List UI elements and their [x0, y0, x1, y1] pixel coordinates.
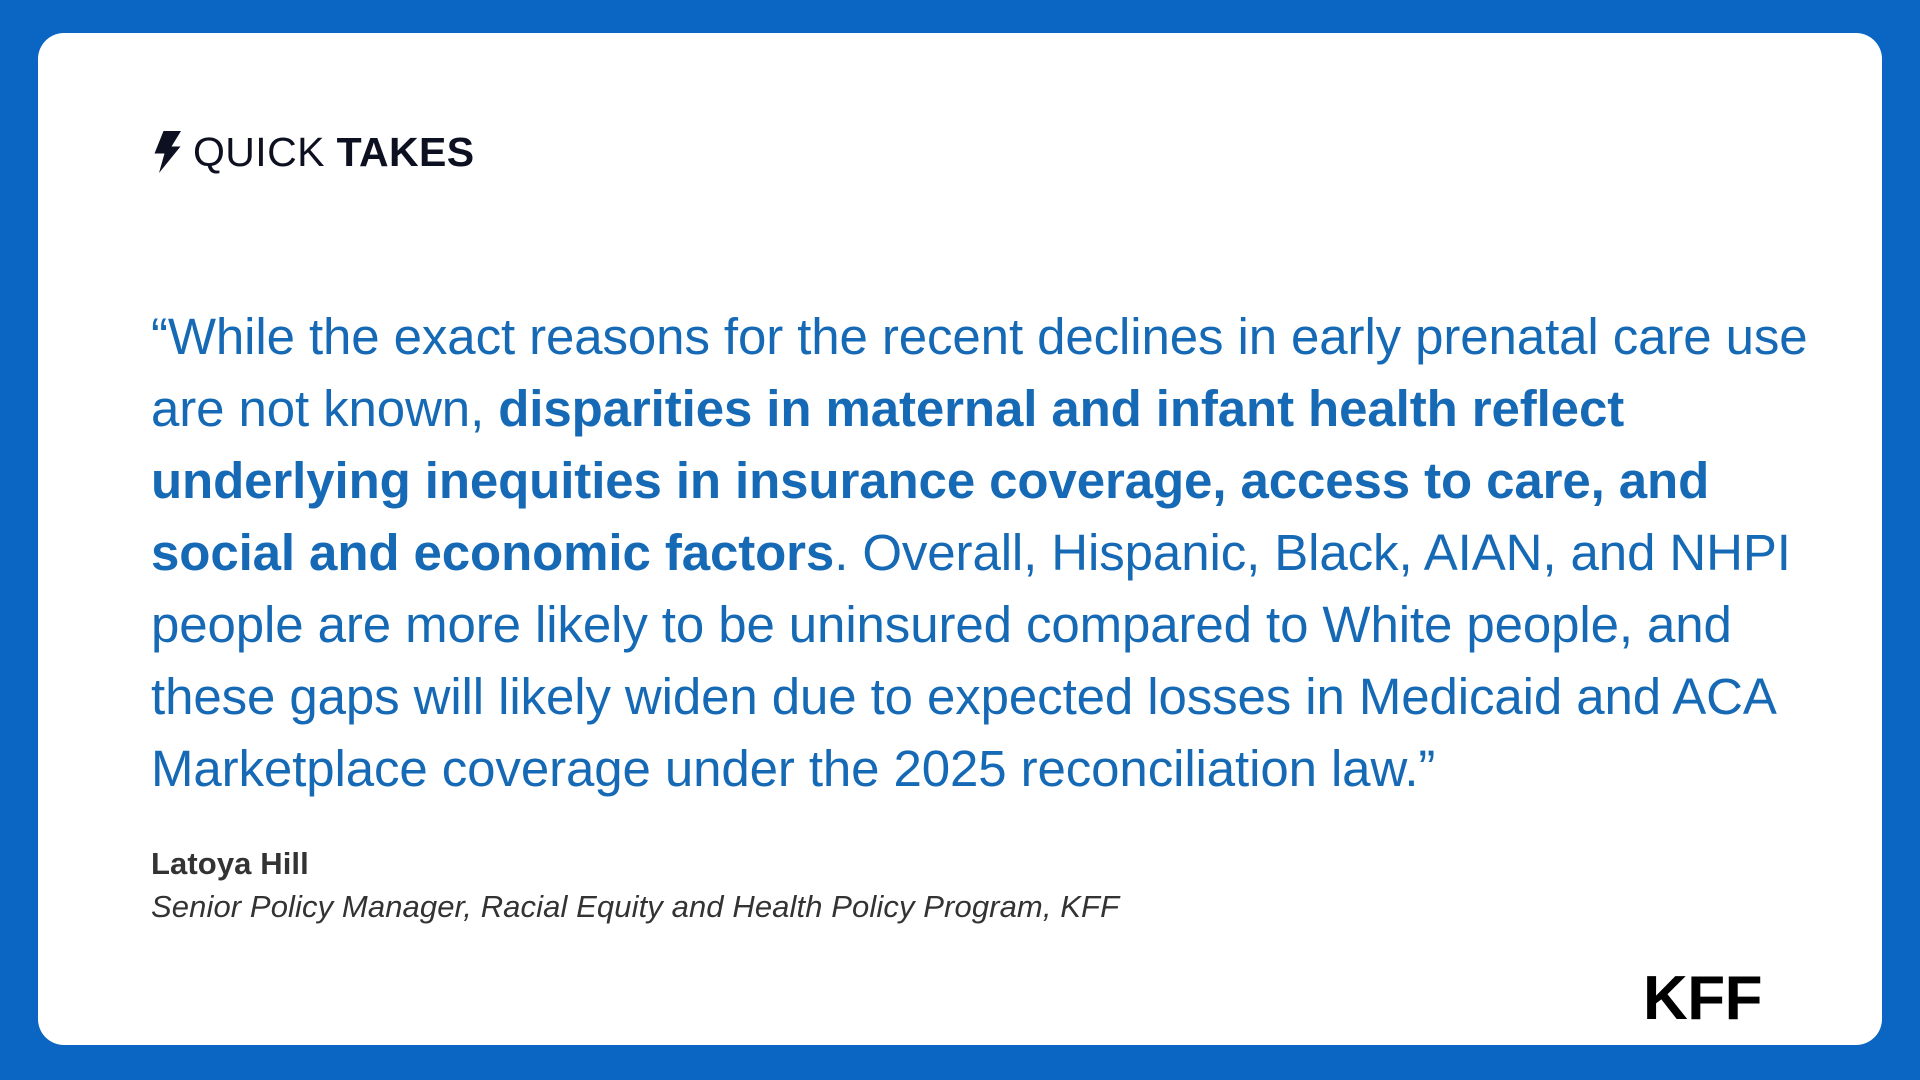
quote-text: “While the exact reasons for the recent … [151, 301, 1831, 805]
header-label-bold: TAKES [337, 129, 475, 175]
header-label-regular: QUICK [193, 129, 337, 175]
kff-logo: KFF [1643, 968, 1762, 1030]
lightning-bolt-icon [151, 131, 181, 173]
quick-take-card: QUICK TAKES “While the exact reasons for… [38, 33, 1882, 1045]
quick-takes-label: QUICK TAKES [193, 132, 475, 173]
attribution-title: Senior Policy Manager, Racial Equity and… [151, 885, 1551, 929]
attribution: Latoya Hill Senior Policy Manager, Racia… [151, 843, 1551, 929]
quick-takes-header: QUICK TAKES [151, 131, 475, 173]
attribution-name: Latoya Hill [151, 843, 1551, 885]
